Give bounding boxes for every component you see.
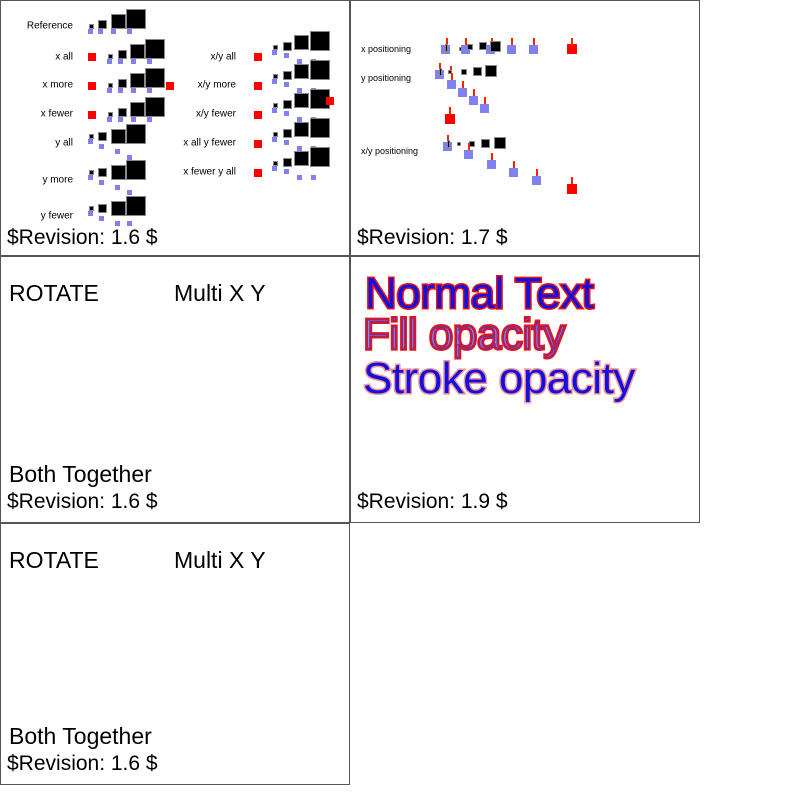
- glyph-mark: [254, 82, 262, 90]
- label-rotate: ROTATE: [9, 547, 99, 574]
- glyph-mark: [145, 68, 165, 88]
- row-label-x-all-y-fewer: x all y fewer: [131, 138, 236, 149]
- row-label-y-more: y more: [1, 175, 73, 186]
- glyph-mark: [310, 118, 330, 138]
- panel-text-positioning-17: x positioning y positioning x/y position…: [350, 0, 700, 256]
- glyph-mark: [310, 31, 330, 51]
- glyph-mark: [311, 175, 316, 180]
- glyph-mark: [457, 142, 461, 146]
- glyph-mark: [272, 50, 277, 55]
- glyph-mark: [507, 45, 516, 54]
- glyph-mark: [99, 144, 104, 149]
- glyph-mark: [131, 88, 136, 93]
- glyph-mark: [107, 88, 112, 93]
- glyph-mark: [494, 137, 506, 149]
- glyph-mark: [481, 139, 490, 148]
- glyph-mark: [509, 168, 518, 177]
- glyph-mark: [326, 97, 334, 105]
- label-both-together: Both Together: [9, 723, 152, 750]
- glyph-mark: [118, 108, 127, 117]
- glyph-mark: [88, 29, 93, 34]
- row-label-x-more: x more: [1, 80, 73, 91]
- glyph-mark: [467, 44, 473, 50]
- glyph-mark: [98, 20, 107, 29]
- glyph-mark: [532, 176, 541, 185]
- glyph-mark: [272, 108, 277, 113]
- glyph-mark: [98, 132, 107, 141]
- glyph-mark: [88, 53, 96, 61]
- panel-text-positioning-16: Reference x all x more x fewer y all y m…: [0, 0, 350, 256]
- row-label-reference: Reference: [1, 21, 73, 32]
- glyph-mark: [88, 139, 93, 144]
- glyph-mark: [464, 150, 473, 159]
- glyph-mark: [98, 29, 103, 34]
- glyph-mark: [107, 117, 112, 122]
- row-label-x-fewer: x fewer: [1, 109, 73, 120]
- label-xy-positioning: x/y positioning: [361, 146, 451, 156]
- glyph-mark: [445, 44, 448, 52]
- glyph-mark: [88, 211, 93, 216]
- glyph-mark: [130, 102, 145, 117]
- opacity-line-stroke-opacity: Stroke opacity: [363, 354, 635, 404]
- glyph-mark: [445, 114, 455, 124]
- glyph-mark: [126, 124, 146, 144]
- glyph-mark: [111, 165, 126, 180]
- tick-mark: [571, 38, 573, 46]
- glyph-mark: [130, 73, 145, 88]
- glyph-mark: [130, 44, 145, 59]
- glyph-mark: [126, 9, 146, 29]
- panel-text-rotate-16-lower: ROTATE Multi X Y Both Together $Revision…: [0, 523, 350, 785]
- glyph-mark: [283, 129, 292, 138]
- glyph-mark: [447, 140, 450, 148]
- glyph-mark: [297, 175, 302, 180]
- glyph-mark: [145, 97, 165, 117]
- glyph-mark: [254, 169, 262, 177]
- glyph-mark: [469, 96, 478, 105]
- glyph-mark: [487, 160, 496, 169]
- glyph-mark: [283, 100, 292, 109]
- opacity-line-fill-opacity: Fill opacity: [363, 310, 565, 360]
- glyph-mark: [254, 53, 262, 61]
- revision-label: $Revision: 1.7 $: [357, 226, 508, 250]
- glyph-mark: [111, 29, 116, 34]
- label-multi-x-y: Multi X Y: [174, 547, 266, 574]
- glyph-mark: [118, 59, 123, 64]
- glyph-mark: [294, 93, 309, 108]
- glyph-mark: [272, 137, 277, 142]
- glyph-mark: [458, 88, 467, 97]
- glyph-mark: [439, 68, 442, 76]
- glyph-mark: [294, 35, 309, 50]
- glyph-mark: [118, 50, 127, 59]
- glyph-mark: [99, 216, 104, 221]
- glyph-mark: [272, 166, 277, 171]
- glyph-mark: [147, 88, 152, 93]
- glyph-mark: [310, 147, 330, 167]
- glyph-mark: [99, 180, 104, 185]
- glyph-mark: [118, 79, 127, 88]
- glyph-mark: [294, 151, 309, 166]
- glyph-mark: [294, 64, 309, 79]
- glyph-mark: [88, 111, 96, 119]
- panel-text-opacity-19: Normal Text Fill opacity Stroke opacity …: [350, 256, 700, 523]
- panel-text-rotate-16-upper: ROTATE Multi X Y Both Together $Revision…: [0, 256, 350, 523]
- revision-label: $Revision: 1.9 $: [357, 490, 508, 514]
- glyph-mark: [284, 53, 289, 58]
- row-label-y-fewer: y fewer: [1, 211, 73, 222]
- revision-label: $Revision: 1.6 $: [7, 226, 158, 250]
- glyph-mark: [126, 160, 146, 180]
- label-both-together: Both Together: [9, 461, 152, 488]
- glyph-mark: [131, 59, 136, 64]
- glyph-mark: [284, 82, 289, 87]
- glyph-mark: [98, 168, 107, 177]
- glyph-mark: [126, 196, 146, 216]
- glyph-mark: [283, 71, 292, 80]
- glyph-mark: [118, 88, 123, 93]
- glyph-mark: [111, 129, 126, 144]
- glyph-mark: [490, 41, 501, 52]
- glyph-mark: [254, 111, 262, 119]
- row-label-x-fewer-y-all: x fewer y all: [131, 167, 236, 178]
- revision-label: $Revision: 1.6 $: [7, 490, 158, 514]
- glyph-mark: [166, 82, 174, 90]
- glyph-mark: [284, 111, 289, 116]
- glyph-mark: [147, 117, 152, 122]
- row-label-x-all: x all: [1, 52, 73, 63]
- glyph-mark: [111, 201, 126, 216]
- glyph-mark: [88, 175, 93, 180]
- glyph-mark: [131, 117, 136, 122]
- glyph-mark: [145, 39, 165, 59]
- glyph-mark: [107, 59, 112, 64]
- glyph-mark: [98, 204, 107, 213]
- glyph-mark: [111, 14, 126, 29]
- glyph-mark: [485, 65, 497, 77]
- glyph-mark: [283, 158, 292, 167]
- test-panel-grid: Reference x all x more x fewer y all y m…: [0, 0, 800, 800]
- glyph-mark: [272, 79, 277, 84]
- glyph-mark: [284, 169, 289, 174]
- glyph-mark: [254, 140, 262, 148]
- glyph-mark: [480, 104, 489, 113]
- glyph-mark: [284, 140, 289, 145]
- glyph-mark: [88, 82, 96, 90]
- glyph-mark: [147, 59, 152, 64]
- glyph-mark: [473, 67, 482, 76]
- revision-label: $Revision: 1.6 $: [7, 752, 158, 776]
- glyph-mark: [127, 29, 132, 34]
- glyph-mark: [127, 190, 132, 195]
- glyph-mark: [118, 117, 123, 122]
- glyph-mark: [461, 69, 467, 75]
- glyph-mark: [447, 80, 456, 89]
- row-label-y-all: y all: [1, 138, 73, 149]
- label-x-positioning: x positioning: [361, 44, 441, 54]
- label-rotate: ROTATE: [9, 280, 99, 307]
- glyph-mark: [310, 60, 330, 80]
- glyph-mark: [115, 185, 120, 190]
- glyph-mark: [294, 122, 309, 137]
- glyph-mark: [115, 149, 120, 154]
- label-y-positioning: y positioning: [361, 73, 441, 83]
- glyph-mark: [567, 184, 577, 194]
- label-multi-x-y: Multi X Y: [174, 280, 266, 307]
- glyph-mark: [283, 42, 292, 51]
- glyph-mark: [529, 45, 538, 54]
